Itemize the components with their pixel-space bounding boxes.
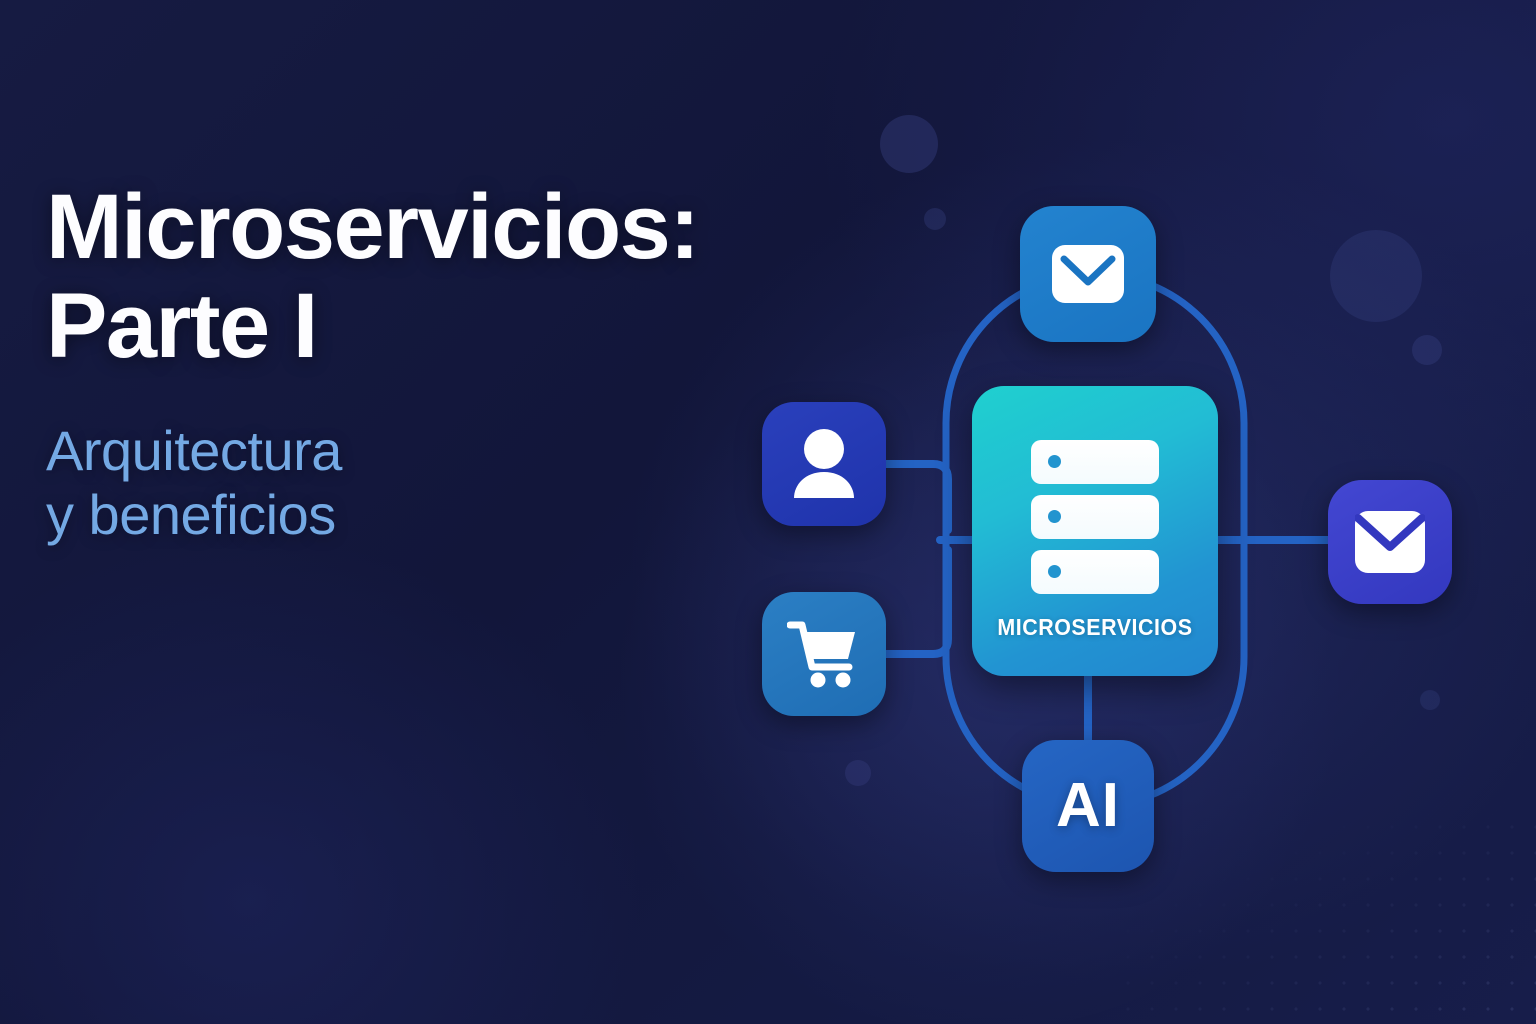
ai-text-icon: AI [1056,775,1120,837]
envelope-icon [1355,511,1425,573]
server-stack-icon [1031,440,1159,594]
slide-canvas: Microservicios: Parte I Arquitectura y b… [0,0,1536,1024]
node-ai[interactable]: AI [1022,740,1154,872]
subtitle-line-1: Arquitectura [46,419,342,482]
server-bar [1031,550,1159,594]
node-core-microservices[interactable]: MICROSERVICIOS [972,386,1218,676]
node-cart[interactable] [762,592,886,716]
envelope-icon [1052,245,1124,303]
architecture-diagram: AI MICROSERVICIOS [700,150,1500,950]
server-bar [1031,440,1159,484]
cart-icon [787,619,861,689]
wire-user-to-core [886,464,948,530]
status-led [1048,565,1061,578]
status-led [1048,455,1061,468]
node-email-right[interactable] [1328,480,1452,604]
user-icon [790,428,858,500]
node-user[interactable] [762,402,886,526]
core-label: MICROSERVICIOS [997,614,1192,641]
server-bar [1031,495,1159,539]
status-led [1048,510,1061,523]
wire-cart-to-core [886,550,948,654]
title-line-1: Microservicios: [46,176,698,278]
node-email-top[interactable] [1020,206,1156,342]
